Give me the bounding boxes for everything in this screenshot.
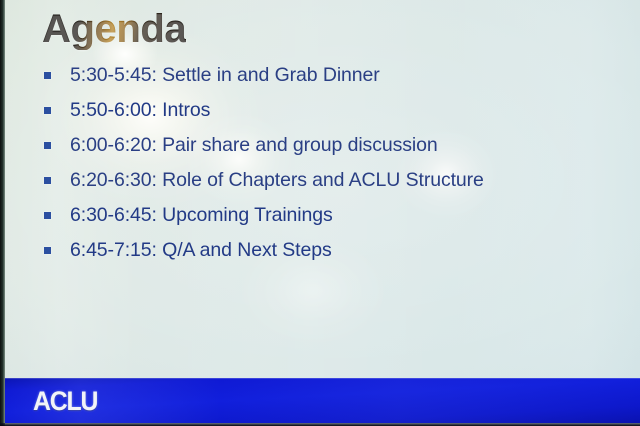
agenda-item-label: 6:30-6:45: Upcoming Trainings — [70, 198, 604, 233]
agenda-item-label: 5:30-5:45: Settle in and Grab Dinner — [70, 58, 604, 93]
footer-bar-sheen — [4, 378, 640, 423]
agenda-item-label: 6:45-7:15: Q/A and Next Steps — [70, 233, 604, 268]
agenda-item-label: 6:00-6:20: Pair share and group discussi… — [70, 128, 604, 163]
square-bullet-icon — [44, 72, 51, 79]
square-bullet-icon — [44, 212, 51, 219]
agenda-list-item: 6:30-6:45: Upcoming Trainings — [44, 198, 604, 233]
aclu-footer-bar: ACLU — [4, 378, 640, 423]
aclu-logo: ACLU — [33, 388, 97, 415]
agenda-list-item: 6:45-7:15: Q/A and Next Steps — [44, 233, 604, 268]
agenda-list: 5:30-5:45: Settle in and Grab Dinner 5:5… — [44, 58, 604, 268]
screen-left-edge — [0, 0, 5, 426]
square-bullet-icon — [44, 177, 51, 184]
square-bullet-icon — [44, 107, 51, 114]
agenda-item-label: 6:20-6:30: Role of Chapters and ACLU Str… — [70, 163, 604, 198]
agenda-list-item: 6:20-6:30: Role of Chapters and ACLU Str… — [44, 163, 604, 198]
agenda-list-item: 5:50-6:00: Intros — [44, 93, 604, 128]
agenda-list-item: 6:00-6:20: Pair share and group discussi… — [44, 128, 604, 163]
square-bullet-icon — [44, 142, 51, 149]
slide-title: Agenda — [42, 8, 186, 50]
projected-slide-photo: Agenda 5:30-5:45: Settle in and Grab Din… — [0, 0, 640, 426]
square-bullet-icon — [44, 247, 51, 254]
agenda-item-label: 5:50-6:00: Intros — [70, 93, 604, 128]
agenda-list-item: 5:30-5:45: Settle in and Grab Dinner — [44, 58, 604, 93]
